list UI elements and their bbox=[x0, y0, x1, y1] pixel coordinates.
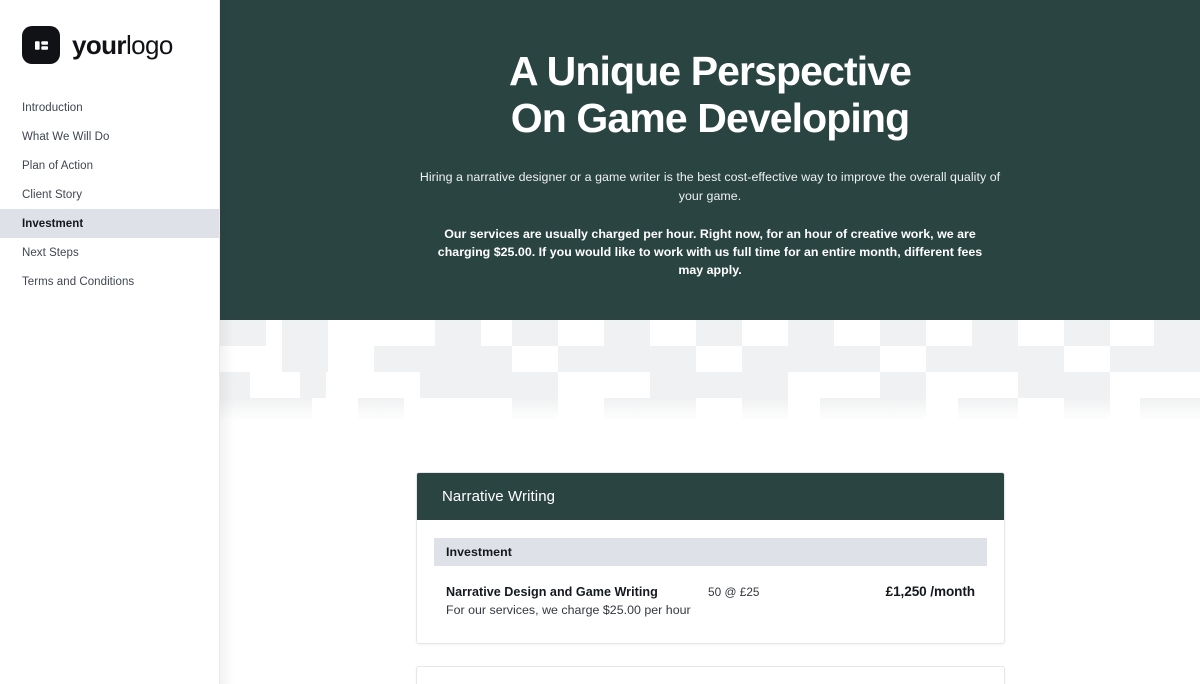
page-title-line2: On Game Developing bbox=[511, 95, 909, 141]
sidebar-item-label: Introduction bbox=[22, 102, 83, 114]
sidebar-item-label: What We Will Do bbox=[22, 131, 109, 143]
sidebar-item-label: Next Steps bbox=[22, 247, 79, 259]
main-content: A Unique Perspective On Game Developing … bbox=[220, 0, 1200, 684]
table-row: Narrative Design and Game Writing For ou… bbox=[434, 566, 987, 619]
page-title: A Unique Perspective On Game Developing bbox=[290, 48, 1130, 141]
sidebar-item-label: Plan of Action bbox=[22, 160, 93, 172]
sidebar-item-investment[interactable]: Investment bbox=[0, 209, 220, 238]
pricing-card-next bbox=[416, 666, 1005, 684]
sidebar-item-label: Investment bbox=[22, 218, 83, 230]
page-title-line1: A Unique Perspective bbox=[509, 48, 911, 94]
sidebar-item-what-we-will-do[interactable]: What We Will Do bbox=[0, 122, 220, 151]
card-title: Narrative Writing bbox=[417, 473, 1004, 520]
sidebar-item-next-steps[interactable]: Next Steps bbox=[0, 238, 220, 267]
sidebar-nav: Introduction What We Will Do Plan of Act… bbox=[0, 93, 220, 296]
proposal-page: yourlogo Introduction What We Will Do Pl… bbox=[0, 0, 1200, 684]
brand-word-light: logo bbox=[126, 30, 173, 60]
sidebar-item-client-story[interactable]: Client Story bbox=[0, 180, 220, 209]
card-body: Investment Narrative Design and Game Wri… bbox=[417, 520, 1004, 643]
sidebar-item-terms-and-conditions[interactable]: Terms and Conditions bbox=[0, 267, 220, 296]
line-item-description: For our services, we charge $25.00 per h… bbox=[446, 602, 708, 618]
line-item-details: Narrative Design and Game Writing For ou… bbox=[446, 584, 708, 619]
pricing-card: Narrative Writing Investment Narrative D… bbox=[416, 472, 1005, 644]
brand-logo[interactable]: yourlogo bbox=[22, 26, 173, 64]
sidebar-item-label: Terms and Conditions bbox=[22, 276, 134, 288]
section-header-investment: Investment bbox=[434, 538, 987, 566]
hero-banner: A Unique Perspective On Game Developing … bbox=[220, 0, 1200, 320]
sidebar-item-introduction[interactable]: Introduction bbox=[0, 93, 220, 122]
line-item-price: £1,250 /month bbox=[878, 584, 975, 599]
pixel-pattern-band bbox=[220, 320, 1200, 424]
hero-subtitle: Hiring a narrative designer or a game wr… bbox=[418, 168, 1003, 205]
line-item-quantity: 50 @ £25 bbox=[708, 584, 878, 599]
brand-word-bold: your bbox=[72, 30, 126, 60]
cards-container: Narrative Writing Investment Narrative D… bbox=[220, 424, 1200, 684]
sidebar-item-plan-of-action[interactable]: Plan of Action bbox=[0, 151, 220, 180]
brand-wordmark: yourlogo bbox=[72, 32, 173, 58]
sidebar: yourlogo Introduction What We Will Do Pl… bbox=[0, 0, 220, 684]
line-item-name: Narrative Design and Game Writing bbox=[446, 584, 708, 600]
layout-grid-icon bbox=[22, 26, 60, 64]
sidebar-item-label: Client Story bbox=[22, 189, 82, 201]
hero-pricing-note: Our services are usually charged per hou… bbox=[424, 225, 996, 280]
